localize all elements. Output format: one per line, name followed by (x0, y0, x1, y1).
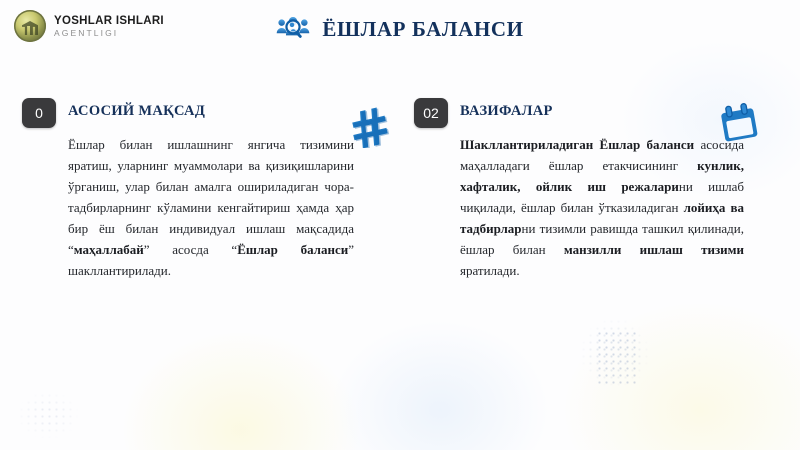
step-badge: 0 (22, 98, 56, 128)
column-paragraph: Ёшлар билан ишлашнинг янгича тизимини яр… (22, 134, 354, 281)
background-blob-blue-center (330, 320, 550, 450)
dot-pattern-bottom-left (18, 392, 78, 438)
column-paragraph: Шакллантириладиган Ёшлар баланси асосида… (414, 134, 744, 281)
dot-pattern-right-dense (596, 330, 640, 384)
dot-pattern-right (580, 318, 650, 388)
background-blob-yellow-left (120, 330, 360, 450)
column-main-goal: 0 АСОСИЙ МАҚСАД Ёшлар билан ишлашнинг ян… (0, 98, 400, 281)
slide-title-group: ЁШЛАР БАЛАНСИ (0, 12, 800, 46)
content-columns: 0 АСОСИЙ МАҚСАД Ёшлар билан ишлашнинг ян… (0, 98, 800, 281)
slide-canvas: YOSHLAR ISHLARI AGENTLIGI (0, 0, 800, 450)
step-badge: 02 (414, 98, 448, 128)
slide-header: YOSHLAR ISHLARI AGENTLIGI (0, 0, 800, 60)
column-header: 02 ВАЗИФАЛАР (414, 98, 744, 128)
column-title: ВАЗИФАЛАР (460, 98, 553, 120)
people-search-icon (276, 12, 310, 46)
column-title: АСОСИЙ МАҚСАД (68, 98, 205, 120)
column-header: 0 АСОСИЙ МАҚСАД (22, 98, 354, 128)
page-title: ЁШЛАР БАЛАНСИ (322, 17, 523, 42)
background-blob-yellow-right (560, 300, 800, 450)
column-tasks: 02 ВАЗИФАЛАР Шакллантириладиган Ёшлар ба… (400, 98, 800, 281)
